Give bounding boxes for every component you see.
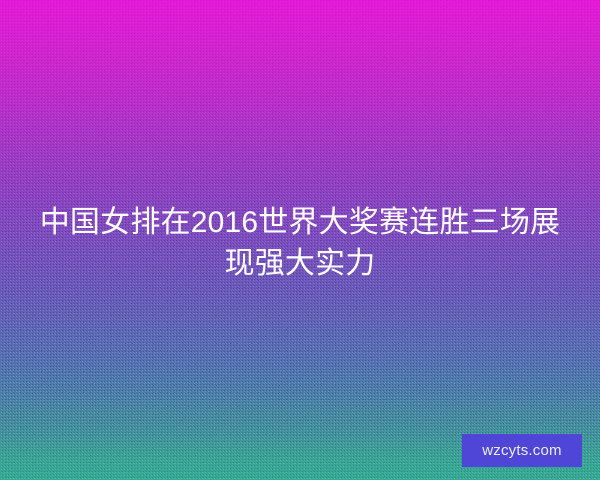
article-cover-image: 中国女排在2016世界大奖赛连胜三场展现强大实力 wzcyts.com xyxy=(0,0,600,480)
cover-title: 中国女排在2016世界大奖赛连胜三场展现强大实力 xyxy=(0,202,600,284)
watermark-badge: wzcyts.com xyxy=(462,434,582,467)
watermark-label: wzcyts.com xyxy=(482,443,562,458)
